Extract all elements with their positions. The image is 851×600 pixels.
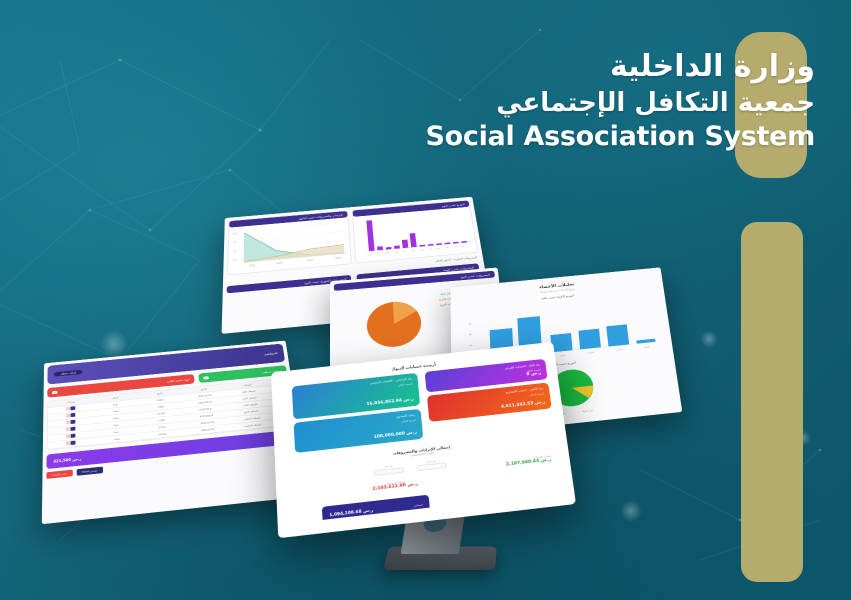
- edit-icon[interactable]: [71, 427, 76, 431]
- delete-icon[interactable]: [66, 427, 71, 431]
- brand-arabic-line2: جمعية التكافل الإجتماعي: [426, 86, 816, 120]
- svg-text:شرف: شرف: [644, 345, 650, 348]
- brand-title: وزارة الداخلية جمعية التكافل الإجتماعي S…: [426, 48, 816, 154]
- svg-text:2023: 2023: [307, 259, 314, 262]
- edit-icon[interactable]: [71, 406, 76, 410]
- cell-date: 2025-07-01: [185, 426, 230, 433]
- panel-title-distribution: التوزيع حسب النوع: [442, 203, 465, 208]
- metric-expenses: إجمالي المصروفات ر.س 2,103,611.90: [372, 479, 418, 492]
- svg-text:ديس: ديس: [462, 245, 466, 247]
- svg-text:يناير: يناير: [367, 254, 372, 256]
- bar-chart-purple: ينايرفبر مارسأبريل مايويونيو يوليوأغس سب…: [353, 207, 479, 261]
- metric-revenue: إجمالي الإيرادات ر.س 2,197,980.43: [506, 455, 552, 467]
- svg-text:بلاتيني: بلاتيني: [588, 351, 595, 354]
- svg-text:60: 60: [469, 334, 473, 336]
- employees-total-value: ر.س 421,500: [53, 456, 81, 463]
- svg-text:50: 50: [233, 251, 237, 253]
- net-total-value: ر.س 1,094,108.68: [329, 508, 373, 518]
- card-value: ر.س 4,611,342.53: [501, 400, 546, 409]
- edit-icon[interactable]: [71, 420, 76, 424]
- dashboard-screen-employees[interactable]: إضافة موظف الموظفون 4 انتهاء صلاحية الإق…: [42, 341, 310, 525]
- gold-bar-decoration: [741, 222, 803, 582]
- delete-icon[interactable]: [66, 407, 71, 411]
- edit-icon[interactable]: [71, 441, 76, 445]
- delete-icon[interactable]: [66, 413, 71, 417]
- svg-text:75: 75: [234, 242, 238, 244]
- bokeh-dot: [100, 330, 128, 358]
- panel-title-expenses-by-type: المصروفات حسب النوع: [460, 273, 490, 278]
- add-employee-button[interactable]: إضافة موظف: [54, 370, 82, 377]
- svg-text:فبر: فبر: [376, 252, 380, 255]
- card-subtitle: الرصيد الحالي: [401, 419, 416, 423]
- brand-english: Social Association System: [426, 120, 816, 154]
- bokeh-dot: [620, 500, 642, 522]
- alert-danger-label: انتهاء صلاحية الإقامة: [167, 378, 190, 383]
- edit-icon[interactable]: [71, 413, 76, 417]
- date-filters: من تاريخ إلى تاريخ: [374, 459, 447, 476]
- delete-selected-button[interactable]: حذف المحدد: [46, 470, 72, 479]
- delete-icon[interactable]: [66, 441, 71, 445]
- svg-text:أكت: أكت: [445, 246, 449, 249]
- svg-text:غير نشط: غير نشط: [582, 409, 594, 413]
- svg-text:40: 40: [469, 345, 473, 347]
- svg-text:يونيو: يونيو: [410, 250, 415, 252]
- delete-icon[interactable]: [66, 420, 71, 424]
- svg-text:مايو: مايو: [402, 251, 406, 253]
- card-title: رصيد الصندوق: [396, 413, 415, 419]
- svg-text:ذهبي: ذهبي: [560, 354, 565, 357]
- main-monitor[interactable]: أرصدة حسابات البنوك بنك الراجحي - الحساب…: [271, 342, 576, 538]
- chart-footer-note: المصروفات الشهرية - الشهر الحالي: [435, 256, 477, 263]
- cell-employee: الموظف السادس: [230, 422, 275, 429]
- svg-text:نوف: نوف: [453, 245, 457, 248]
- svg-text:100: 100: [233, 233, 238, 235]
- card-subtitle: الرصيد الحالي: [530, 393, 545, 397]
- employees-header-title: الموظفون: [264, 352, 278, 356]
- bokeh-dot: [700, 330, 718, 348]
- area-chart: 2021 2022 2023 2024 100 75 50 25: [228, 218, 353, 273]
- card-value: ر.س 16,936,862.84: [366, 397, 414, 407]
- card-value: ر.س 0: [526, 371, 541, 377]
- svg-text:أبريل: أبريل: [395, 251, 400, 254]
- net-total-box: ر.س 1,094,108.68 الصافي: [322, 495, 430, 525]
- net-total-label: الصافي: [414, 503, 423, 508]
- filter-from[interactable]: من تاريخ: [374, 464, 404, 476]
- card-subtitle: الرصيد الحالي: [398, 383, 413, 387]
- svg-text:25: 25: [233, 260, 237, 262]
- cell-amount: 14,000: [140, 431, 186, 438]
- alert-success-badge: 8: [203, 376, 209, 379]
- svg-text:2024: 2024: [335, 256, 342, 259]
- svg-text:2021: 2021: [249, 264, 256, 267]
- svg-text:2022: 2022: [276, 262, 283, 265]
- edit-icon[interactable]: [71, 434, 76, 438]
- svg-text:مارس: مارس: [385, 252, 390, 254]
- alert-danger-badge: 4: [52, 390, 57, 393]
- svg-text:أغس: أغس: [428, 247, 433, 250]
- svg-text:ماسي: ماسي: [616, 348, 623, 351]
- cell-status: متوقف: [94, 435, 140, 442]
- delete-icon[interactable]: [66, 434, 71, 438]
- svg-text:80: 80: [469, 323, 473, 325]
- brand-arabic-line1: وزارة الداخلية: [426, 48, 816, 86]
- card-value: ر.س 100,000,000: [374, 430, 417, 439]
- svg-text:يوليو: يوليو: [419, 249, 425, 251]
- export-excel-button[interactable]: تصدير Excel: [76, 467, 103, 476]
- svg-text:سبت: سبت: [437, 248, 442, 250]
- filter-to[interactable]: إلى تاريخ: [417, 459, 447, 471]
